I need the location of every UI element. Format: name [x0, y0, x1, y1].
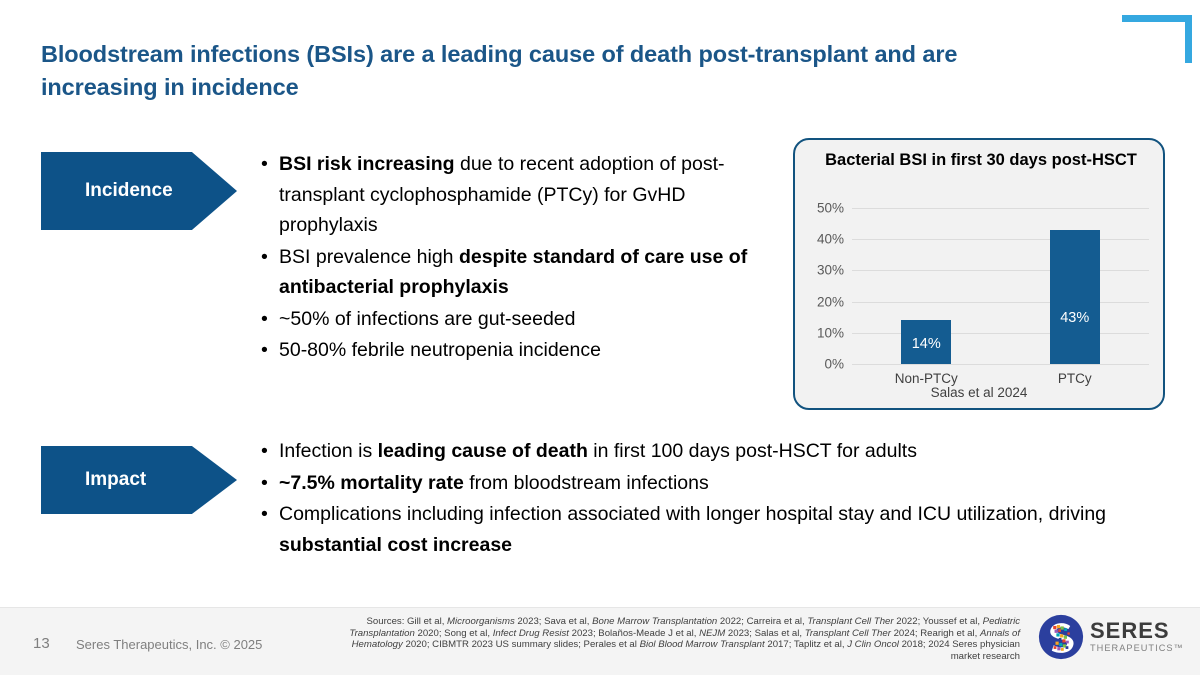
chart-category-label: PTCy — [1028, 371, 1122, 386]
footer-source-segment: 2022; Carreira et al, — [717, 616, 807, 627]
chart-gridline: 20% — [852, 302, 1149, 303]
seres-logo-wordmark: SERES THERAPEUTICS™ — [1090, 620, 1184, 654]
bullet-text: ~7.5% mortality rate — [279, 472, 464, 494]
footer-source-segment: 2018; 2024 Seres physician market resear… — [899, 639, 1020, 662]
bullet-item: BSI risk increasing due to recent adopti… — [259, 149, 759, 241]
impact-bullet-list: Infection is leading cause of death in f… — [259, 436, 1119, 561]
chart-gridline: 0% — [852, 364, 1149, 365]
footer-source-segment: 2020; Song et al, — [415, 628, 493, 639]
footer-source-segment: J Clin Oncol — [847, 639, 899, 650]
footer-source-segment: 2023; Sava et al, — [515, 616, 592, 627]
seres-logo-name: SERES — [1090, 620, 1184, 642]
footer-source-segment: 2024; Rearigh et al, — [891, 628, 980, 639]
callout-arrow-impact: Impact — [41, 446, 237, 514]
slide-canvas: Bloodstream infections (BSIs) are a lead… — [0, 0, 1200, 675]
bullet-text: BSI prevalence high — [279, 246, 459, 268]
footer-source-segment: Infect Drug Resist — [493, 628, 569, 639]
bullet-text: ~50% of infections are gut-seeded — [279, 308, 576, 330]
chart-gridline: 10% — [852, 333, 1149, 334]
footer-source-segment: Transplant Cell Ther — [807, 616, 893, 627]
seres-logo-tagline: THERAPEUTICS™ — [1090, 642, 1184, 654]
chart-bar: 14% — [901, 320, 951, 364]
footer-source-segment: Gill et al, — [404, 616, 447, 627]
chart-bar-group: 14%Non-PTCy — [901, 208, 951, 364]
seres-logo-mark-icon — [1038, 614, 1084, 660]
chart-y-axis-tick: 20% — [817, 294, 844, 309]
chart-category-label: Non-PTCy — [879, 371, 973, 386]
bullet-text: substantial cost increase — [279, 534, 512, 556]
seres-logo: SERES THERAPEUTICS™ — [1038, 614, 1178, 662]
bullet-item: ~7.5% mortality rate from bloodstream in… — [259, 468, 1119, 499]
page-title: Bloodstream infections (BSIs) are a lead… — [41, 38, 1001, 104]
chart-bar-group: 43%PTCy — [1050, 208, 1100, 364]
chart-y-axis-tick: 10% — [817, 325, 844, 340]
chart-card: Bacterial BSI in first 30 days post-HSCT… — [793, 138, 1165, 410]
footer-source-segment: 2017; Taplitz et al, — [765, 639, 848, 650]
footer-source-segment: Biol Blood Marrow Transplant — [640, 639, 765, 650]
bullet-text: from bloodstream infections — [464, 472, 709, 494]
bullet-text: Infection is — [279, 440, 378, 462]
chart-gridline: 30% — [852, 270, 1149, 271]
footer-source-segment: Bone Marrow Transplantation — [592, 616, 717, 627]
footer-source-segment: Microorganisms — [447, 616, 515, 627]
footer-copyright: Seres Therapeutics, Inc. © 2025 — [76, 637, 262, 652]
chart-gridline: 40% — [852, 239, 1149, 240]
chart-bar-value-label: 43% — [1050, 310, 1100, 326]
footer-sources-prefix: Sources: — [367, 616, 405, 627]
bullet-text: BSI risk increasing — [279, 153, 455, 175]
chart-bar-value-label: 14% — [901, 336, 951, 352]
bullet-text: leading cause of death — [378, 440, 588, 462]
footer-source-segment: Transplant Cell Ther — [805, 628, 891, 639]
chart-plot-area: 50%40%30%20%10%0%14%Non-PTCy43%PTCy — [852, 208, 1149, 364]
footer-source-segment: 2023; Salas et al, — [725, 628, 804, 639]
chart-title: Bacterial BSI in first 30 days post-HSCT — [807, 149, 1155, 171]
callout-label-incidence: Incidence — [41, 180, 173, 202]
footer-page-number: 13 — [33, 635, 50, 652]
bullet-item: BSI prevalence high despite standard of … — [259, 242, 759, 303]
bullet-item: Infection is leading cause of death in f… — [259, 436, 1119, 467]
chart-y-axis-tick: 30% — [817, 263, 844, 278]
bullet-text: 50-80% febrile neutropenia incidence — [279, 339, 601, 361]
callout-label-impact: Impact — [41, 469, 146, 491]
bullet-item: ~50% of infections are gut-seeded — [259, 304, 759, 335]
chart-source-note: Salas et al 2024 — [795, 385, 1163, 400]
footer-sources: Sources: Gill et al, Microorganisms 2023… — [320, 616, 1020, 662]
chart-y-axis-tick: 0% — [824, 357, 844, 372]
footer-source-segment: 2023; Bolaños-Meade J et al, — [569, 628, 699, 639]
chart-y-axis-tick: 40% — [817, 232, 844, 247]
chart-bar: 43% — [1050, 230, 1100, 364]
footer-source-segment: NEJM — [699, 628, 725, 639]
callout-arrow-incidence: Incidence — [41, 152, 237, 230]
chart-y-axis-tick: 50% — [817, 201, 844, 216]
bullet-item: 50-80% febrile neutropenia incidence — [259, 335, 759, 366]
bullet-item: Complications including infection associ… — [259, 499, 1119, 560]
bullet-text: in first 100 days post-HSCT for adults — [588, 440, 917, 462]
chart-gridline: 50% — [852, 208, 1149, 209]
footer-source-segment: 2022; Youssef et al, — [894, 616, 983, 627]
incidence-bullet-list: BSI risk increasing due to recent adopti… — [259, 149, 759, 367]
corner-accent-bracket — [1122, 15, 1192, 63]
bullet-text: Complications including infection associ… — [279, 503, 1106, 525]
footer-source-segment: 2020; CIBMTR 2023 US summary slides; Per… — [403, 639, 640, 650]
